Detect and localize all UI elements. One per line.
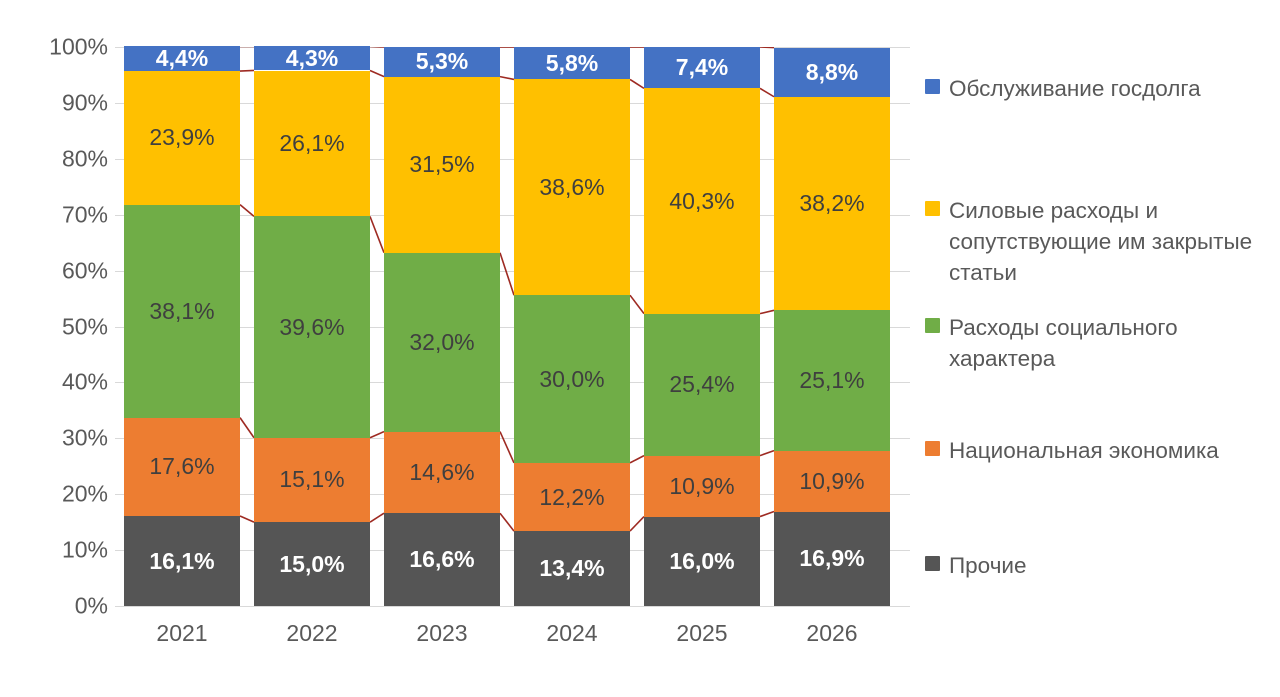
- bar-segment-label: 16,9%: [799, 547, 864, 570]
- bar-segment-label: 10,9%: [669, 475, 734, 498]
- legend-item-label: Прочие: [949, 550, 1027, 581]
- y-axis-tick-mark: [115, 382, 124, 383]
- y-axis-tick-mark: [115, 550, 124, 551]
- bar-segment[interactable]: 8,8%: [774, 48, 890, 97]
- legend-item[interactable]: Прочие: [925, 550, 1027, 581]
- legend-item-label: Обслуживание госдолга: [949, 73, 1201, 104]
- y-axis-tick-mark: [115, 438, 124, 439]
- bar-column[interactable]: 16,9%10,9%25,1%38,2%8,8%: [774, 47, 890, 606]
- bar-segment[interactable]: 31,5%: [384, 77, 500, 253]
- legend-swatch-icon: [925, 318, 940, 333]
- y-axis-tick-label: 70%: [12, 201, 108, 228]
- bar-segment[interactable]: 5,8%: [514, 47, 630, 79]
- bar-segment-label: 38,1%: [149, 300, 214, 323]
- bar-segment-label: 15,1%: [279, 468, 344, 491]
- bar-segment-label: 8,8%: [806, 61, 858, 84]
- bar-segment[interactable]: 15,1%: [254, 438, 370, 522]
- bar-segment[interactable]: 25,4%: [644, 314, 760, 456]
- x-axis-tick-label: 2023: [384, 620, 500, 647]
- bar-segment[interactable]: 25,1%: [774, 310, 890, 450]
- bar-column[interactable]: 15,0%15,1%39,6%26,1%4,3%: [254, 47, 370, 606]
- y-axis-tick-label: 20%: [12, 481, 108, 508]
- bar-segment[interactable]: 16,9%: [774, 512, 890, 606]
- legend-swatch-icon: [925, 79, 940, 94]
- legend-item-label: Силовые расходы и сопутствующие им закры…: [949, 195, 1270, 288]
- y-axis-tick-label: 80%: [12, 145, 108, 172]
- y-axis-tick-label: 50%: [12, 313, 108, 340]
- bar-segment[interactable]: 7,4%: [644, 47, 760, 88]
- legend-item-label: Расходы социального характера: [949, 312, 1270, 374]
- bar-segment[interactable]: 32,0%: [384, 253, 500, 432]
- bar-segment[interactable]: 13,4%: [514, 531, 630, 606]
- y-axis-tick-label: 100%: [12, 34, 108, 61]
- bar-segment-label: 16,6%: [409, 548, 474, 571]
- y-axis-tick-label: 0%: [12, 593, 108, 620]
- bar-segment[interactable]: 26,1%: [254, 71, 370, 217]
- bar-column[interactable]: 16,6%14,6%32,0%31,5%5,3%: [384, 47, 500, 606]
- bar-column[interactable]: 13,4%12,2%30,0%38,6%5,8%: [514, 47, 630, 606]
- bar-segment-label: 23,9%: [149, 126, 214, 149]
- legend-swatch-icon: [925, 556, 940, 571]
- bar-segment-label: 38,2%: [799, 192, 864, 215]
- bar-segment-label: 4,4%: [156, 47, 208, 70]
- bar-segment-label: 7,4%: [676, 56, 728, 79]
- x-axis-tick-label: 2021: [124, 620, 240, 647]
- bar-segment-label: 5,3%: [416, 50, 468, 73]
- bar-segment-label: 26,1%: [279, 132, 344, 155]
- bar-segment[interactable]: 16,1%: [124, 516, 240, 606]
- bar-segment[interactable]: 23,9%: [124, 71, 240, 205]
- bar-segment-label: 32,0%: [409, 331, 474, 354]
- bar-segment[interactable]: 16,6%: [384, 513, 500, 606]
- bar-segment-label: 5,8%: [546, 52, 598, 75]
- bar-segment-label: 13,4%: [539, 557, 604, 580]
- bar-segment-label: 38,6%: [539, 176, 604, 199]
- legend-item[interactable]: Силовые расходы и сопутствующие им закры…: [925, 195, 1270, 288]
- y-axis-tick-label: 10%: [12, 537, 108, 564]
- x-axis-tick-label: 2025: [644, 620, 760, 647]
- bar-segment[interactable]: 4,3%: [254, 46, 370, 70]
- bar-column[interactable]: 16,1%17,6%38,1%23,9%4,4%: [124, 47, 240, 606]
- bar-segment-label: 15,0%: [279, 553, 344, 576]
- bar-segment[interactable]: 38,6%: [514, 79, 630, 295]
- bar-segment[interactable]: 10,9%: [774, 451, 890, 512]
- bar-column[interactable]: 16,0%10,9%25,4%40,3%7,4%: [644, 47, 760, 606]
- bar-segment-label: 12,2%: [539, 486, 604, 509]
- bar-segment-label: 40,3%: [669, 190, 734, 213]
- bar-segment[interactable]: 17,6%: [124, 418, 240, 516]
- y-axis-tick-mark: [115, 327, 124, 328]
- y-axis-tick-mark: [115, 47, 124, 48]
- bar-segment-label: 17,6%: [149, 455, 214, 478]
- legend-swatch-icon: [925, 201, 940, 216]
- bar-segment[interactable]: 16,0%: [644, 517, 760, 606]
- y-axis-tick-mark: [115, 494, 124, 495]
- y-axis-tick-mark: [115, 103, 124, 104]
- y-axis-tick-label: 40%: [12, 369, 108, 396]
- x-axis-tick-label: 2022: [254, 620, 370, 647]
- y-axis-tick-label: 60%: [12, 257, 108, 284]
- plot-area: 16,1%17,6%38,1%23,9%4,4%15,0%15,1%39,6%2…: [124, 47, 910, 606]
- bar-segment[interactable]: 40,3%: [644, 88, 760, 313]
- legend-swatch-icon: [925, 441, 940, 456]
- stacked-bar-chart: 0%10%20%30%40%50%60%70%80%90%100% 16,1%1…: [0, 0, 1280, 697]
- y-axis-tick-label: 90%: [12, 89, 108, 116]
- bar-segment-label: 10,9%: [799, 470, 864, 493]
- bar-segment[interactable]: 5,3%: [384, 47, 500, 77]
- legend-item[interactable]: Обслуживание госдолга: [925, 73, 1201, 104]
- y-axis-tick-mark: [115, 159, 124, 160]
- legend-item-label: Национальная экономика: [949, 435, 1219, 466]
- bar-segment-label: 25,4%: [669, 373, 734, 396]
- bar-segment-label: 16,1%: [149, 550, 214, 573]
- bar-segment-label: 31,5%: [409, 153, 474, 176]
- bar-segment-label: 25,1%: [799, 369, 864, 392]
- bar-segment[interactable]: 15,0%: [254, 522, 370, 606]
- bar-segment[interactable]: 12,2%: [514, 463, 630, 531]
- x-axis-tick-label: 2026: [774, 620, 890, 647]
- bar-segment-label: 14,6%: [409, 461, 474, 484]
- bar-segment[interactable]: 14,6%: [384, 432, 500, 514]
- y-axis-tick-mark: [115, 215, 124, 216]
- bar-segment[interactable]: 38,2%: [774, 97, 890, 311]
- bar-segment-label: 39,6%: [279, 316, 344, 339]
- bar-segment[interactable]: 4,4%: [124, 46, 240, 71]
- y-axis-tick-mark: [115, 606, 124, 607]
- bar-segment-label: 4,3%: [286, 47, 338, 70]
- legend-item[interactable]: Расходы социального характера: [925, 312, 1270, 374]
- bar-segment[interactable]: 30,0%: [514, 295, 630, 463]
- bar-segment-label: 16,0%: [669, 550, 734, 573]
- gridline: [124, 606, 910, 607]
- bar-segment[interactable]: 39,6%: [254, 216, 370, 437]
- x-axis-tick-label: 2024: [514, 620, 630, 647]
- bar-segment[interactable]: 10,9%: [644, 456, 760, 517]
- legend-item[interactable]: Национальная экономика: [925, 435, 1219, 466]
- bar-segment[interactable]: 38,1%: [124, 205, 240, 418]
- y-axis-tick-label: 30%: [12, 425, 108, 452]
- y-axis-tick-mark: [115, 271, 124, 272]
- bar-segment-label: 30,0%: [539, 368, 604, 391]
- y-axis-labels: 0%10%20%30%40%50%60%70%80%90%100%: [12, 47, 108, 606]
